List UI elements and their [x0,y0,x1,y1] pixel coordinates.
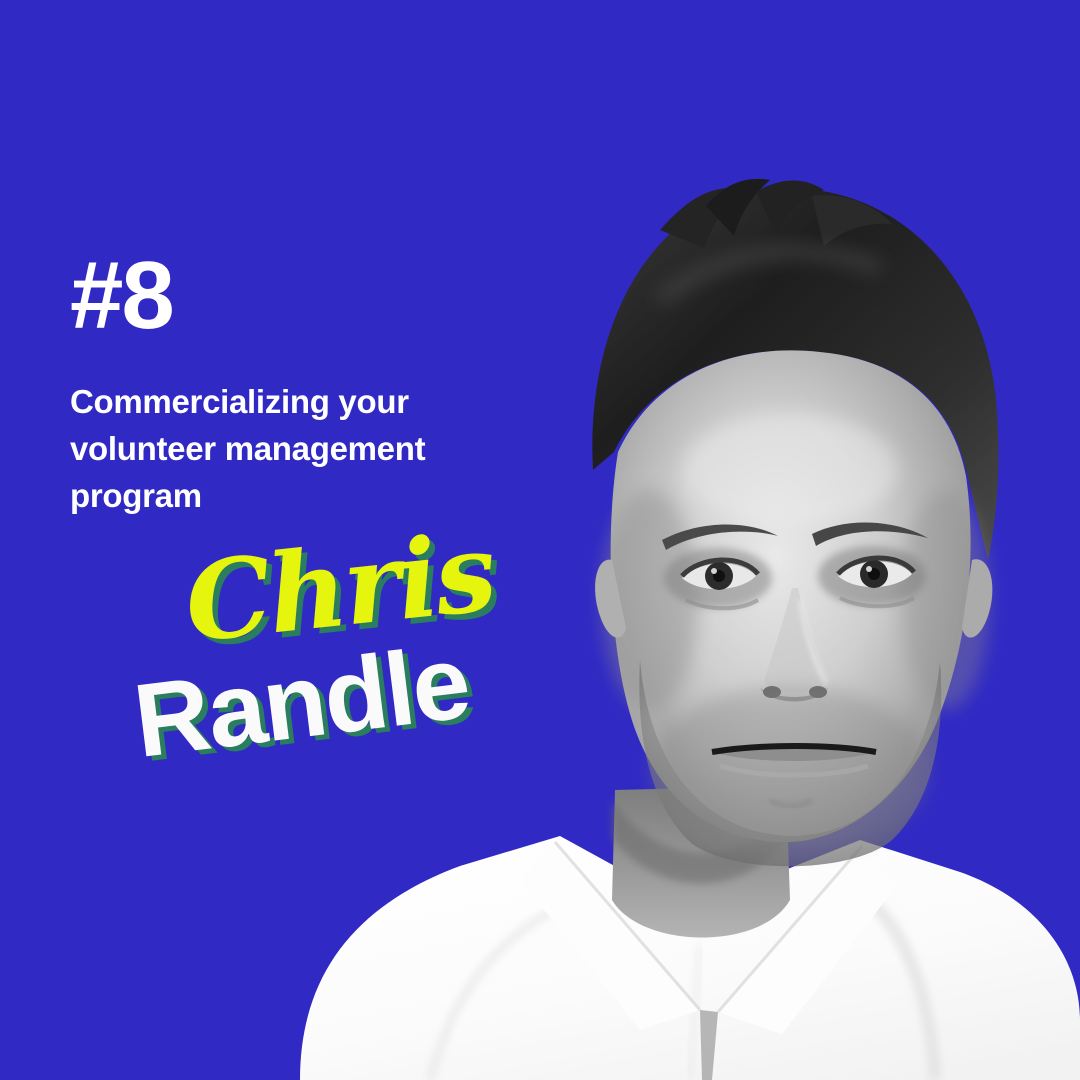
episode-number: #8 [70,248,173,344]
speaker-portrait [0,0,1080,1080]
podcast-episode-card: #8 Commercializing your volunteer manage… [0,0,1080,1080]
episode-title: Commercializing your volunteer managemen… [70,378,550,519]
speaker-last-name: Randle [129,628,475,777]
